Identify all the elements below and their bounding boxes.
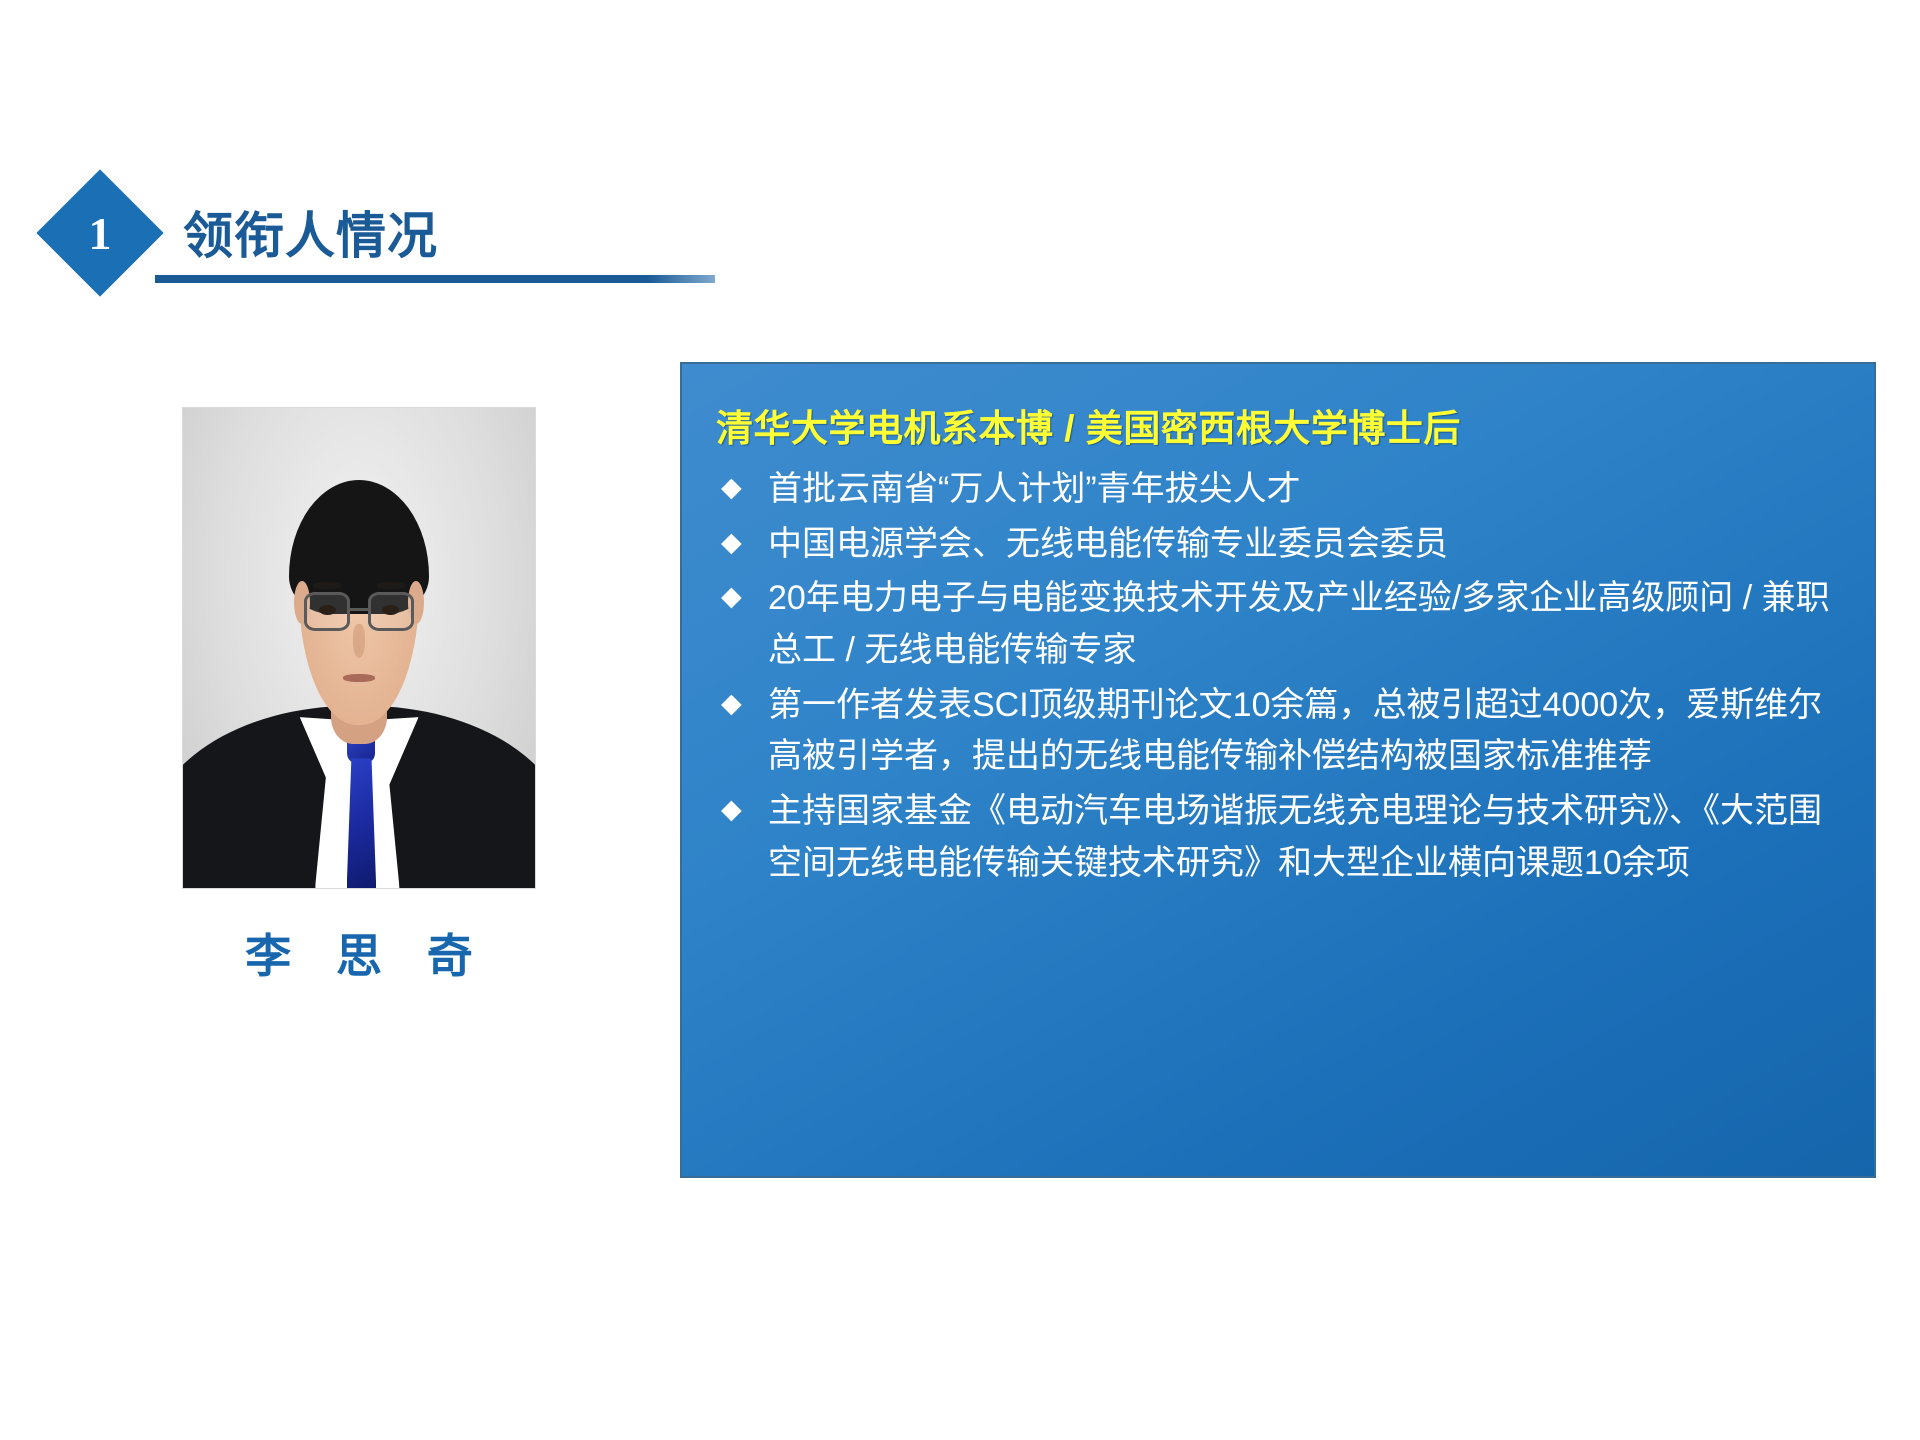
glasses-bridge-icon [350,608,368,611]
photo-tie [347,758,377,888]
list-item: ◆ 20年电力电子与电能变换技术开发及产业经验/多家企业高级顾问 / 兼职总工 … [716,573,1846,676]
panel-title: 清华大学电机系本博 / 美国密西根大学博士后 [716,398,1846,452]
list-item-label: 第一作者发表SCI顶级期刊论文10余篇，总被引超过4000次，爱斯维尔高被引学者… [768,680,1846,783]
list-item: ◆ 首批云南省“万人计划”青年拔尖人才 [716,464,1846,516]
credentials-list: ◆ 首批云南省“万人计划”青年拔尖人才 ◆ 中国电源学会、无线电能传输专业委员会… [716,464,1846,889]
diamond-bullet-icon: ◆ [716,464,768,510]
avatar [183,408,535,888]
profile-photo-block: 李 思 奇 [183,408,535,888]
slide-root: 1 领衔人情况 李 思 奇 [0,0,1920,1440]
slide-header: 1 领衔人情况 [55,180,675,290]
list-item-label: 主持国家基金《电动汽车电场谐振无线充电理论与技术研究》、《大范围空间无线电能传输… [768,786,1846,889]
photo-eyebrow-right [377,582,405,589]
profile-info-panel: 清华大学电机系本博 / 美国密西根大学博士后 ◆ 首批云南省“万人计划”青年拔尖… [680,362,1876,1178]
header-underline [155,275,715,283]
list-item-label: 中国电源学会、无线电能传输专业委员会委员 [768,519,1846,571]
page-title: 领衔人情况 [183,196,438,268]
diamond-bullet-icon: ◆ [716,786,768,832]
photo-mouth [343,674,375,682]
list-item: ◆ 第一作者发表SCI顶级期刊论文10余篇，总被引超过4000次，爱斯维尔高被引… [716,680,1846,783]
list-item-label: 首批云南省“万人计划”青年拔尖人才 [768,464,1846,516]
diamond-bullet-icon: ◆ [716,680,768,726]
photo-eyebrow-left [313,582,341,589]
list-item: ◆ 中国电源学会、无线电能传输专业委员会委员 [716,519,1846,571]
photo-nose [353,624,365,658]
list-item-label: 20年电力电子与电能变换技术开发及产业经验/多家企业高级顾问 / 兼职总工 / … [768,573,1846,676]
diamond-bullet-icon: ◆ [716,519,768,565]
list-item: ◆ 主持国家基金《电动汽车电场谐振无线充电理论与技术研究》、《大范围空间无线电能… [716,786,1846,889]
section-number-label: 1 [55,188,145,278]
diamond-bullet-icon: ◆ [716,573,768,619]
profile-name: 李 思 奇 [183,920,535,986]
